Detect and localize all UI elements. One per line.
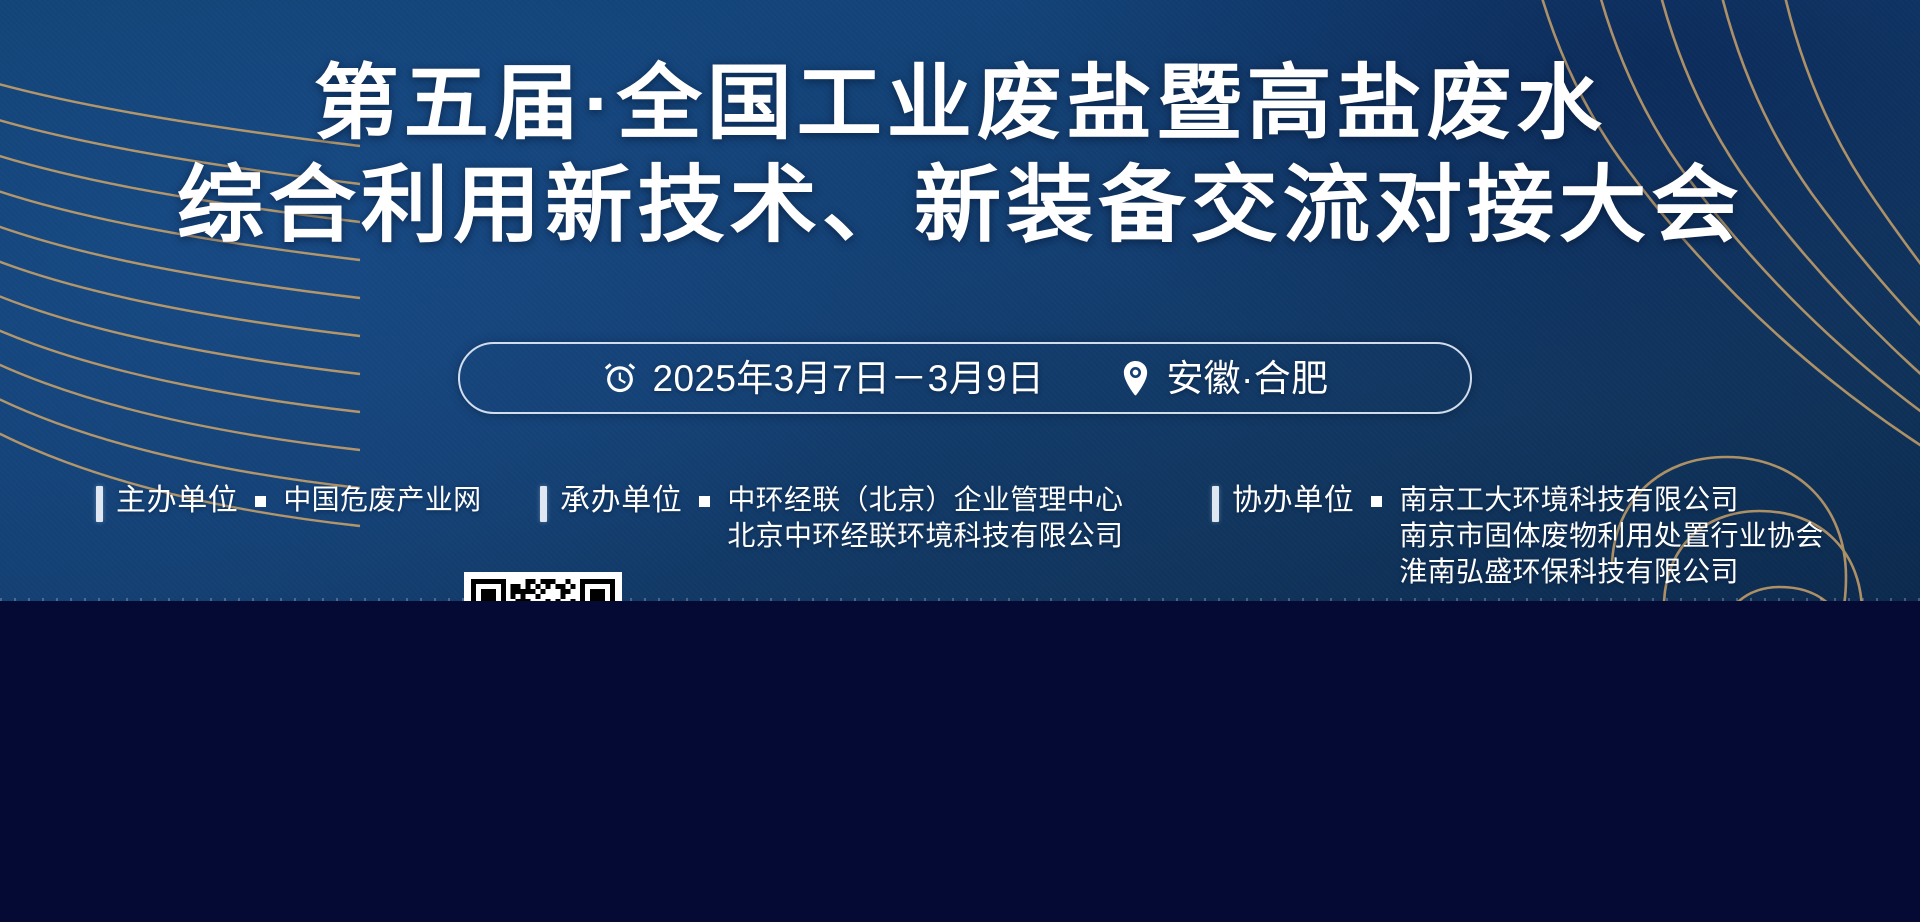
square-bullet-icon xyxy=(699,496,710,507)
banner-page: 第五届·全国工业废盐暨高盐废水 综合利用新技术、新装备交流对接大会 2025年3… xyxy=(0,0,1920,922)
organizer-label: 主办单位 xyxy=(116,482,238,520)
event-location-item: 安徽·合肥 xyxy=(1120,360,1328,397)
organizer-label: 协办单位 xyxy=(1232,482,1354,520)
organizer-label: 承办单位 xyxy=(560,482,682,520)
title-line-2: 综合利用新技术、新装备交流对接大会 xyxy=(0,156,1920,254)
organizer-value: 南京工大环境科技有限公司 xyxy=(1399,482,1823,518)
organizer-group-co-organizer: 协办单位 南京工大环境科技有限公司 南京市固体废物利用处置行业协会 淮南弘盛环保… xyxy=(1212,482,1824,590)
organizer-value: 中国危废产业网 xyxy=(283,482,481,518)
square-bullet-icon xyxy=(255,496,266,507)
qr-code[interactable] xyxy=(464,572,622,601)
organizer-value: 中环经联（北京）企业管理中心 xyxy=(727,482,1123,518)
organizer-values: 中国危废产业网 xyxy=(283,482,481,518)
organizer-values: 中环经联（北京）企业管理中心 北京中环经联环境科技有限公司 xyxy=(727,482,1123,554)
organizer-values: 南京工大环境科技有限公司 南京市固体废物利用处置行业协会 淮南弘盛环保科技有限公… xyxy=(1399,482,1823,590)
organizer-value: 淮南弘盛环保科技有限公司 xyxy=(1399,554,1823,590)
organizers-section: 主办单位 中国危废产业网 承办单位 中环经联（北京）企业管理中心 北京中环经联环… xyxy=(0,482,1920,601)
map-pin-icon xyxy=(1120,360,1151,396)
organizer-group-host: 主办单位 中国危废产业网 xyxy=(96,482,481,522)
organizer-value: 北京中环经联环境科技有限公司 xyxy=(727,518,1123,554)
accent-bar-icon xyxy=(1212,486,1219,522)
accent-bar-icon xyxy=(96,486,103,522)
event-location-text: 安徽·合肥 xyxy=(1166,360,1328,397)
qr-code-image xyxy=(471,579,615,601)
organizer-value: 南京市固体废物利用处置行业协会 xyxy=(1399,518,1823,554)
conference-banner: 第五届·全国工业废盐暨高盐废水 综合利用新技术、新装备交流对接大会 2025年3… xyxy=(0,0,1920,601)
title-line-1: 第五届·全国工业废盐暨高盐废水 xyxy=(0,56,1920,152)
page-lower-area xyxy=(0,601,1920,922)
square-bullet-icon xyxy=(1371,496,1382,507)
accent-bar-icon xyxy=(540,486,547,522)
banner-title-block: 第五届·全国工业废盐暨高盐废水 综合利用新技术、新装备交流对接大会 xyxy=(0,56,1920,254)
event-date-item: 2025年3月7日－3月9日 xyxy=(602,360,1045,397)
event-info-pill: 2025年3月7日－3月9日 安徽·合肥 xyxy=(458,342,1472,414)
event-date-text: 2025年3月7日－3月9日 xyxy=(653,360,1045,397)
organizer-group-organizer: 承办单位 中环经联（北京）企业管理中心 北京中环经联环境科技有限公司 xyxy=(540,482,1123,554)
alarm-clock-icon xyxy=(602,360,638,396)
